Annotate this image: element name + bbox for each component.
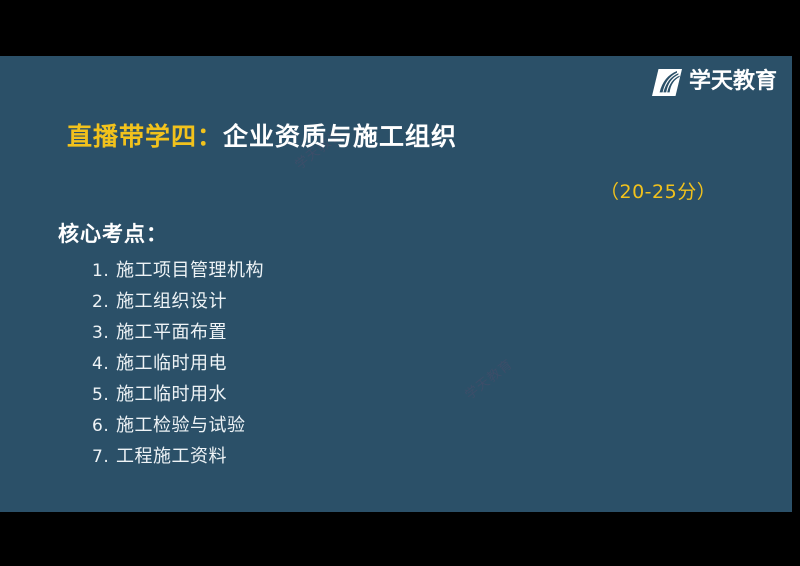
list-item-number: 2.	[92, 292, 116, 312]
video-letterbox-frame: 学天教育 学天教育 学天教育 直播带学四： 企业资质与施工组织 （20-25分）…	[0, 0, 800, 566]
slide-title-accent: 直播带学四：	[67, 117, 223, 153]
score-range-note: （20-25分）	[600, 177, 716, 204]
list-item-label: 施工组织设计	[116, 287, 227, 313]
list-item: 1. 施工项目管理机构	[92, 256, 264, 287]
list-item-number: 3.	[92, 323, 116, 343]
presentation-slide: 学天教育 学天教育 学天教育 直播带学四： 企业资质与施工组织 （20-25分）…	[0, 56, 792, 512]
list-item-number: 5.	[92, 385, 116, 405]
slide-title: 直播带学四： 企业资质与施工组织	[67, 117, 457, 153]
list-item-number: 4.	[92, 354, 116, 374]
core-points-heading: 核心考点：	[58, 218, 168, 248]
list-item-label: 施工临时用电	[116, 349, 227, 375]
list-item-number: 1.	[92, 261, 116, 281]
list-item: 5. 施工临时用水	[92, 380, 264, 411]
list-item: 6. 施工检验与试验	[92, 411, 264, 442]
list-item: 4. 施工临时用电	[92, 349, 264, 380]
list-item: 2. 施工组织设计	[92, 287, 264, 318]
core-points-list: 1. 施工项目管理机构 2. 施工组织设计 3. 施工平面布置 4. 施工临时用…	[92, 256, 264, 473]
slide-title-main: 企业资质与施工组织	[223, 117, 457, 153]
list-item-label: 施工检验与试验	[116, 411, 246, 437]
letterbox-right-strip	[792, 0, 800, 566]
list-item-label: 工程施工资料	[116, 442, 227, 468]
brand-logo-text: 学天教育	[689, 71, 777, 93]
list-item-number: 6.	[92, 416, 116, 436]
swoosh-parallelogram-icon	[652, 69, 682, 96]
list-item-label: 施工项目管理机构	[116, 256, 264, 282]
watermark-text: 学天教育	[460, 354, 516, 403]
list-item-number: 7.	[92, 447, 116, 467]
list-item-label: 施工临时用水	[116, 380, 227, 406]
list-item-label: 施工平面布置	[116, 318, 227, 344]
brand-logo: 学天教育	[652, 68, 777, 96]
list-item: 7. 工程施工资料	[92, 442, 264, 473]
list-item: 3. 施工平面布置	[92, 318, 264, 349]
